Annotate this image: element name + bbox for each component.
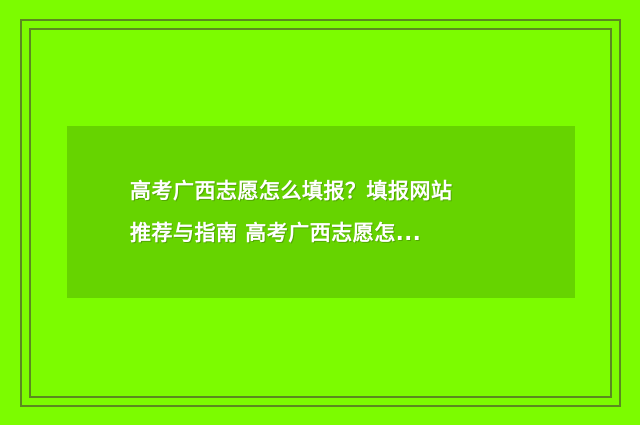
banner-canvas: 高考广西志愿怎么填报？填报网站 推荐与指南 高考广西志愿怎... [0,0,640,425]
headline-panel: 高考广西志愿怎么填报？填报网站 推荐与指南 高考广西志愿怎... [67,126,575,298]
headline-line-1: 高考广西志愿怎么填报？填报网站 [67,171,575,211]
headline-line-2: 推荐与指南 高考广西志愿怎... [67,211,575,253]
